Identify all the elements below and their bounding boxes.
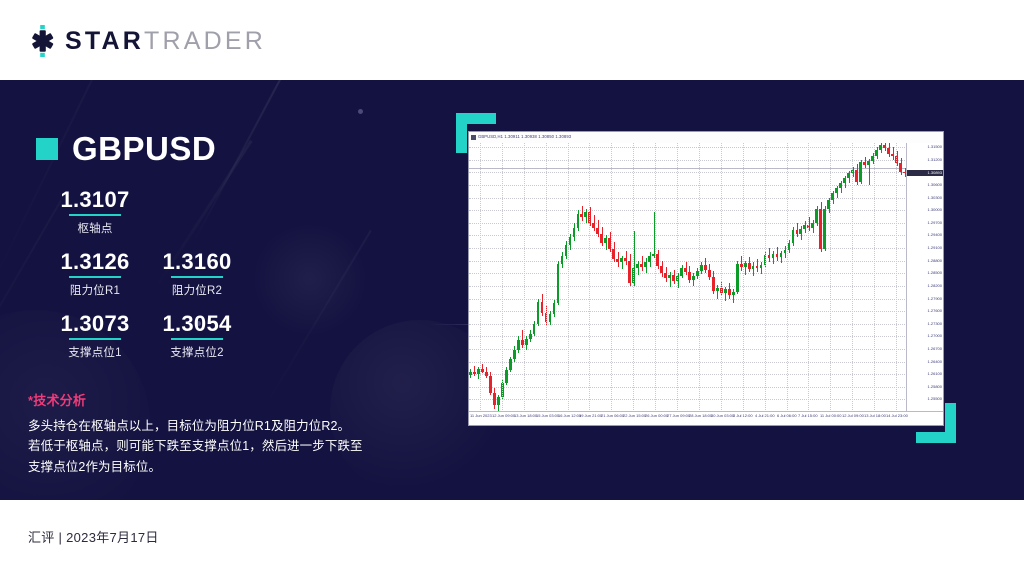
instrument-title: GBPUSD: [36, 132, 216, 165]
candle-body: [577, 214, 580, 228]
grid-line-vertical: [524, 143, 526, 412]
candle-body: [899, 163, 902, 172]
time-axis-tick: 11 Jul 00:00: [820, 414, 842, 418]
candle-body: [823, 209, 826, 249]
level-accent-bar: [69, 276, 121, 278]
candle-body: [664, 273, 667, 278]
candle-body: [847, 173, 850, 178]
candle-body: [728, 289, 731, 295]
price-axis-tick: 1.27900: [928, 297, 942, 301]
grid-line-vertical: [830, 143, 832, 412]
grid-line-vertical: [787, 143, 789, 412]
price-axis-tick: 1.26100: [928, 372, 942, 376]
page-header: STARTRADER: [0, 0, 1024, 80]
grid-line-vertical: [611, 143, 613, 412]
time-axis-tick: 30 Jun 03:00: [711, 414, 734, 418]
grid-line-vertical: [896, 143, 898, 412]
grid-line-vertical: [874, 143, 876, 412]
candle-body: [553, 303, 556, 315]
page-title: GBPUSD: [72, 132, 216, 165]
candle-body: [489, 376, 492, 393]
price-chart[interactable]: GBPUSD,H1 1.30911 1.30938 1.30850 1.3089…: [468, 131, 944, 426]
candle-body: [748, 263, 751, 269]
price-axis-tick: 1.25500: [928, 397, 942, 401]
level-pivot: 1.3107 枢轴点: [25, 188, 165, 236]
candle-body: [712, 277, 715, 291]
time-axis-tick: 12 Jun 09:00: [492, 414, 515, 418]
time-axis-tick: 28 Jun 18:00: [689, 414, 712, 418]
candle-body: [863, 162, 866, 165]
accent-square-icon: [36, 138, 58, 160]
candle-body: [883, 145, 886, 148]
time-axis-tick: 12 Jul 09:00: [842, 414, 864, 418]
time-axis-tick: 21 Jun 06:00: [601, 414, 624, 418]
candle-body: [668, 275, 671, 278]
candle-body: [680, 268, 683, 276]
six-point-star-icon: [28, 25, 58, 57]
candle-body: [760, 265, 763, 268]
candle-body: [573, 228, 576, 237]
candle-body: [497, 397, 500, 405]
candle-body: [493, 393, 496, 406]
content-stage: GBPUSD 1.3107 枢轴点 1.3126 阻力位R1 1.3160 阻力…: [0, 80, 1024, 500]
candle-body: [509, 359, 512, 370]
level-accent-bar: [69, 214, 121, 216]
price-axis-tick: 1.27600: [928, 309, 942, 313]
candle-body: [644, 262, 647, 268]
candle-body: [584, 212, 587, 217]
candle-body: [592, 223, 595, 228]
level-accent-bar: [69, 338, 121, 340]
candle-body: [600, 234, 603, 243]
time-axis-tick: 4 Jul 21:00: [755, 414, 775, 418]
level-resistance2-label: 阻力位R2: [127, 282, 267, 298]
candle-body: [616, 259, 619, 262]
price-axis-tick: 1.31500: [928, 145, 942, 149]
grid-line-vertical: [480, 143, 482, 412]
candle-body: [541, 302, 544, 313]
candle-body: [724, 289, 727, 292]
analysis-line-2: 若低于枢轴点，则可能下跌至支撑点位1，然后进一步下跌至: [28, 436, 408, 456]
price-axis-tick: 1.29100: [928, 246, 942, 250]
analysis-title: *技术分析: [28, 390, 408, 409]
grid-line-vertical: [852, 143, 854, 412]
chart-symbol-icon: [471, 135, 476, 140]
candle-body: [596, 228, 599, 234]
level-resistance2: 1.3160 阻力位R2: [127, 250, 267, 298]
candle-body: [688, 272, 691, 280]
candle-body: [640, 264, 643, 267]
level-accent-bar: [171, 276, 223, 278]
candle-body: [716, 288, 719, 291]
level-pivot-label: 枢轴点: [25, 220, 165, 236]
candle-body: [792, 230, 795, 243]
candle-body: [561, 256, 564, 264]
candle-body: [485, 372, 488, 376]
time-axis-tick: 22 Jun 15:00: [623, 414, 646, 418]
price-axis-tick: 1.27300: [928, 322, 942, 326]
candle-body: [772, 254, 775, 258]
candle-body: [752, 266, 755, 269]
candle-body: [517, 340, 520, 350]
time-axis-tick: 6 Jul 06:00: [777, 414, 797, 418]
grid-line-vertical: [721, 143, 723, 412]
analysis-line-1: 多头持仓在枢轴点以上，目标位为阻力位R1及阻力位R2。: [28, 416, 408, 436]
candle-body: [839, 183, 842, 188]
price-axis-tick: 1.25800: [928, 385, 942, 389]
technical-analysis: *技术分析 多头持仓在枢轴点以上，目标位为阻力位R1及阻力位R2。 若低于枢轴点…: [28, 390, 408, 477]
candle-body: [505, 370, 508, 383]
info-panel: GBPUSD 1.3107 枢轴点 1.3126 阻力位R1 1.3160 阻力…: [0, 80, 440, 500]
chart-header-text: GBPUSD,H1 1.30911 1.30938 1.30850 1.3089…: [478, 134, 571, 139]
brand-logo: STARTRADER: [28, 24, 266, 58]
chart-plot-area[interactable]: [469, 143, 907, 412]
time-axis-tick: 11 Jun 2023: [470, 414, 492, 418]
chart-price-axis[interactable]: 1.315001.312001.309001.306001.303001.300…: [906, 143, 943, 412]
candle-body: [692, 276, 695, 280]
candle-body: [843, 178, 846, 183]
candle-body: [549, 314, 552, 322]
candle-body: [736, 264, 739, 292]
grid-line-vertical: [589, 143, 591, 412]
page-footer: 汇评 | 2023年7月17日: [0, 500, 1024, 576]
price-axis-tick: 1.30600: [928, 183, 942, 187]
candle-body: [796, 230, 799, 233]
candle-body: [859, 162, 862, 181]
candle-body: [604, 238, 607, 243]
time-axis-tick: 13 Jul 18:00: [864, 414, 886, 418]
price-axis-tick: 1.29700: [928, 221, 942, 225]
grid-line-vertical: [699, 143, 701, 412]
time-axis-tick: 27 Jun 09:00: [667, 414, 690, 418]
level-support2: 1.3054 支撑点位2: [127, 312, 267, 360]
grid-line-vertical: [502, 143, 504, 412]
slide-root: STARTRADER GBPUSD 1: [0, 0, 1024, 576]
grid-line-vertical: [633, 143, 635, 412]
grid-line-vertical: [655, 143, 657, 412]
time-axis-tick: 16 Jun 12:00: [558, 414, 581, 418]
grid-line-vertical: [765, 143, 767, 412]
time-axis-tick: 14 Jul 23:00: [886, 414, 908, 418]
grid-line-vertical: [743, 143, 745, 412]
price-axis-tick: 1.31200: [928, 158, 942, 162]
candle-body: [473, 372, 476, 375]
candle-wick: [753, 262, 754, 275]
candle-body: [756, 266, 759, 269]
time-axis-tick: 7 Jul 15:00: [798, 414, 818, 418]
candle-body: [513, 350, 516, 359]
grid-line-vertical: [568, 143, 570, 412]
candle-body: [803, 225, 806, 229]
candle-body: [648, 256, 651, 262]
brand-name-bold: STAR: [65, 27, 144, 55]
price-axis-tick: 1.28800: [928, 259, 942, 263]
brand-name: STARTRADER: [65, 29, 266, 54]
candle-body: [855, 170, 858, 182]
chart-time-axis[interactable]: 11 Jun 202312 Jun 09:0013 Jun 18:0015 Ju…: [469, 411, 943, 425]
candle-body: [537, 302, 540, 324]
time-axis-tick: 26 Jun 00:00: [645, 414, 668, 418]
time-axis-tick: 13 Jun 18:00: [514, 414, 537, 418]
candle-body: [799, 229, 802, 234]
candle-body: [533, 324, 536, 334]
price-axis-tick: 1.27000: [928, 334, 942, 338]
candle-body: [819, 209, 822, 249]
candle-body: [660, 266, 663, 274]
candle-body: [557, 264, 560, 303]
candle-body: [768, 255, 771, 258]
candle-body: [780, 253, 783, 257]
price-axis-tick: 1.26700: [928, 347, 942, 351]
candle-body: [636, 264, 639, 268]
footer-text: 汇评 | 2023年7月17日: [28, 527, 159, 546]
candle-body: [732, 292, 735, 295]
analysis-body: 多头持仓在枢轴点以上，目标位为阻力位R1及阻力位R2。 若低于枢轴点，则可能下跌…: [28, 416, 408, 477]
candle-body: [704, 265, 707, 270]
candle-body: [620, 258, 623, 262]
candle-body: [565, 245, 568, 256]
candle-body: [624, 258, 627, 261]
chart-header-bar: GBPUSD,H1 1.30911 1.30938 1.30850 1.3089…: [469, 132, 943, 143]
brand-name-light: TRADER: [144, 27, 266, 55]
candle-body: [628, 261, 631, 283]
candle-body: [684, 268, 687, 271]
level-pivot-value: 1.3107: [25, 188, 165, 211]
grid-line-vertical: [546, 143, 548, 412]
level-support2-value: 1.3054: [127, 312, 267, 335]
level-resistance2-value: 1.3160: [127, 250, 267, 273]
candle-body: [815, 209, 818, 223]
candle-body: [529, 334, 532, 339]
level-accent-bar: [171, 338, 223, 340]
price-axis-tick: 1.26400: [928, 360, 942, 364]
candle-body: [887, 148, 890, 154]
price-axis-tick: 1.28200: [928, 284, 942, 288]
candle-body: [708, 270, 711, 277]
time-axis-tick: 15 Jun 03:00: [536, 414, 559, 418]
chart-panel: GBPUSD,H1 1.30911 1.30938 1.30850 1.3089…: [456, 113, 956, 443]
time-axis-tick: 19 Jun 21:00: [579, 414, 602, 418]
candle-body: [672, 275, 675, 281]
grid-line-vertical: [677, 143, 679, 412]
candle-body: [776, 254, 779, 257]
price-axis-tick: 1.30000: [928, 208, 942, 212]
current-price-label: 1.30893: [907, 170, 943, 176]
time-axis-tick: 3 Jul 12:00: [733, 414, 753, 418]
candle-body: [879, 145, 882, 150]
candle-body: [811, 223, 814, 228]
level-support2-label: 支撑点位2: [127, 344, 267, 360]
grid-line-vertical: [808, 143, 810, 412]
candle-body: [580, 214, 583, 217]
analysis-line-3: 支撑点位2作为目标位。: [28, 457, 408, 477]
candle-body: [891, 154, 894, 157]
price-axis-tick: 1.30300: [928, 196, 942, 200]
candle-body: [867, 161, 870, 165]
candle-body: [469, 372, 472, 375]
candle-body: [784, 250, 787, 253]
price-axis-tick: 1.29400: [928, 233, 942, 237]
candle-body: [835, 188, 838, 193]
price-axis-tick: 1.28500: [928, 271, 942, 275]
